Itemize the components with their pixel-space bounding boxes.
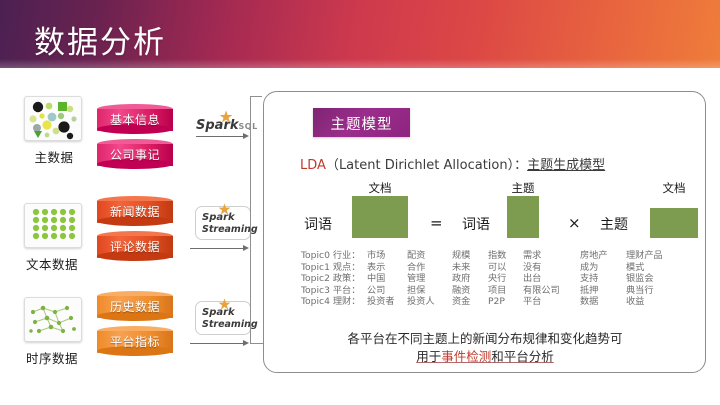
topic-word: 投资人 [407, 296, 452, 308]
data-store-basic-info[interactable]: 基本信息 [97, 104, 173, 134]
colorful-dots-icon [24, 96, 82, 141]
topic-word: 政府 [452, 273, 488, 285]
topic-name: 观点 [333, 262, 351, 273]
data-store-comment-data[interactable]: 评论数据 [97, 231, 173, 261]
matrix-m1-col-label: 主题 [507, 180, 539, 196]
data-store-company-events[interactable]: 公司事记 [97, 139, 173, 169]
topic-word: 指数 [488, 250, 523, 262]
topic-colon: ： [351, 250, 360, 261]
topic-word: 未来 [452, 262, 488, 274]
topic-id: Topic2 [301, 273, 330, 284]
topic-word: 抵押 [580, 285, 626, 297]
conclusion-suffix: 和平台分析 [491, 349, 554, 364]
table-row: Topic4 理财： 投资者 投资人 资金 P2P 平台 数据 收益 [301, 296, 676, 308]
table-row: Topic0 行业： 市场 配资 规模 指数 需求 房地产 理财产品 [301, 250, 676, 262]
topic-name: 理财 [333, 296, 351, 307]
lda-separator: ： [514, 158, 527, 173]
topic-word: 银监会 [626, 273, 676, 285]
topic-model-badge[interactable]: 主题模型 [313, 108, 410, 137]
topic-colon: ： [351, 296, 360, 307]
connector-spine [250, 96, 251, 344]
flow-arrow-line [196, 136, 244, 137]
matrix-m1-row-label: 词语 [462, 214, 490, 234]
topic-model-badge-label: 主题模型 [313, 113, 410, 134]
topic-word: 配资 [407, 250, 452, 262]
matrix-lhs-row-label: 词语 [304, 214, 332, 234]
data-store-label: 历史数据 [97, 298, 173, 315]
topic-name: 行业 [333, 250, 351, 261]
topic-word: 平台 [523, 296, 580, 308]
topic-word-table: Topic0 行业： 市场 配资 规模 指数 需求 房地产 理财产品 Topic… [301, 250, 676, 308]
conclusion-prefix: 用于 [416, 349, 441, 364]
data-store-label: 基本信息 [97, 111, 173, 128]
topic-word: 典当行 [626, 285, 676, 297]
topic-word: 资金 [452, 296, 488, 308]
topic-name: 政策 [333, 273, 351, 284]
topic-id: Topic1 [301, 262, 330, 273]
topic-word: 房地产 [580, 250, 626, 262]
spark-star-icon [218, 203, 231, 216]
topic-colon: ： [351, 273, 360, 284]
matrix-m2-row-label: 主题 [600, 214, 628, 234]
lda-abbr: LDA [300, 158, 326, 173]
conclusion-note: 各平台在不同主题上的新闻分布规律和变化趋势可 用于事件检测和平台分析 [310, 330, 660, 366]
topic-word: 担保 [407, 285, 452, 297]
lda-full-name: Latent Dirichlet Allocation [339, 158, 508, 173]
source-label-timeseries-data: 时序数据 [10, 348, 94, 367]
lda-paren-open: （ [326, 158, 339, 173]
topic-word: 没有 [523, 262, 580, 274]
matrix-lhs-col-label: 文档 [352, 180, 408, 196]
slide-canvas: 数据分析 主数据 [0, 0, 720, 405]
topic-word: 数据 [580, 296, 626, 308]
green-grid-icon [24, 203, 82, 248]
flow-arrow-line [190, 343, 244, 344]
matrix-m2-col-label: 文档 [650, 180, 698, 196]
flow-arrow-line [190, 248, 244, 249]
topic-word: 央行 [488, 273, 523, 285]
lda-matrix-equation: 文档 词语 = 主题 词语 × 文档 主题 [296, 180, 696, 238]
data-store-label: 公司事记 [97, 146, 173, 163]
spark-star-icon [218, 298, 231, 311]
page-title: 数据分析 [34, 17, 166, 62]
matrix-m2-box [650, 208, 698, 238]
topic-word: 有限公司 [523, 285, 580, 297]
conclusion-highlight: 事件检测 [441, 349, 491, 364]
topic-word: 规模 [452, 250, 488, 262]
data-store-label: 新闻数据 [97, 203, 173, 220]
connector-segment [250, 343, 264, 344]
lda-definition: LDA（Latent Dirichlet Allocation）：主题生成模型 [300, 154, 670, 173]
topic-word: 表示 [367, 262, 407, 274]
data-store-history-data[interactable]: 历史数据 [97, 291, 173, 321]
spark-star-icon [219, 110, 233, 124]
topic-word: 中国 [367, 273, 407, 285]
table-row: Topic2 政策： 中国 管理 政府 央行 出台 支持 银监会 [301, 273, 676, 285]
data-store-news-data[interactable]: 新闻数据 [97, 196, 173, 226]
data-store-platform-metrics[interactable]: 平台指标 [97, 326, 173, 356]
times-operator: × [568, 214, 581, 232]
flow-arrow-head [243, 245, 249, 251]
source-label-text-data: 文本数据 [10, 254, 94, 273]
conclusion-line-2: 用于事件检测和平台分析 [310, 348, 660, 366]
topic-id: Topic3 [301, 285, 330, 296]
topic-word: 合作 [407, 262, 452, 274]
green-network-icon [24, 297, 82, 342]
conclusion-line-1: 各平台在不同主题上的新闻分布规律和变化趋势可 [310, 330, 660, 348]
topic-word: 理财产品 [626, 250, 676, 262]
topic-word: 出台 [523, 273, 580, 285]
table-row: Topic3 平台： 公司 担保 融资 项目 有限公司 抵押 典当行 [301, 285, 676, 297]
topic-colon: ： [351, 262, 360, 273]
topic-id: Topic0 [301, 250, 330, 261]
topic-word: 项目 [488, 285, 523, 297]
spark-sql-suffix: SQL [239, 122, 258, 131]
topic-word: 市场 [367, 250, 407, 262]
topic-colon: ： [351, 285, 360, 296]
source-label-master-data: 主数据 [12, 147, 96, 166]
topic-word: 管理 [407, 273, 452, 285]
topic-word: 需求 [523, 250, 580, 262]
topic-name: 平台 [333, 285, 351, 296]
topic-word: 融资 [452, 285, 488, 297]
lda-meaning: 主题生成模型 [527, 158, 605, 173]
topic-word: P2P [488, 296, 523, 308]
matrix-m1-box [507, 196, 539, 238]
flow-arrow-head [243, 340, 249, 346]
data-store-label: 评论数据 [97, 238, 173, 255]
topic-word: 公司 [367, 285, 407, 297]
topic-word: 投资者 [367, 296, 407, 308]
topic-word: 支持 [580, 273, 626, 285]
equals-operator: = [430, 214, 443, 232]
topic-word: 可以 [488, 262, 523, 274]
topic-word: 成为 [580, 262, 626, 274]
connector-segment [250, 96, 262, 97]
flow-arrow-head [243, 133, 249, 139]
data-store-label: 平台指标 [97, 333, 173, 350]
topic-word: 模式 [626, 262, 676, 274]
topic-word: 收益 [626, 296, 676, 308]
matrix-lhs-box [352, 196, 408, 238]
table-row: Topic1 观点： 表示 合作 未来 可以 没有 成为 模式 [301, 262, 676, 274]
topic-id: Topic4 [301, 296, 330, 307]
